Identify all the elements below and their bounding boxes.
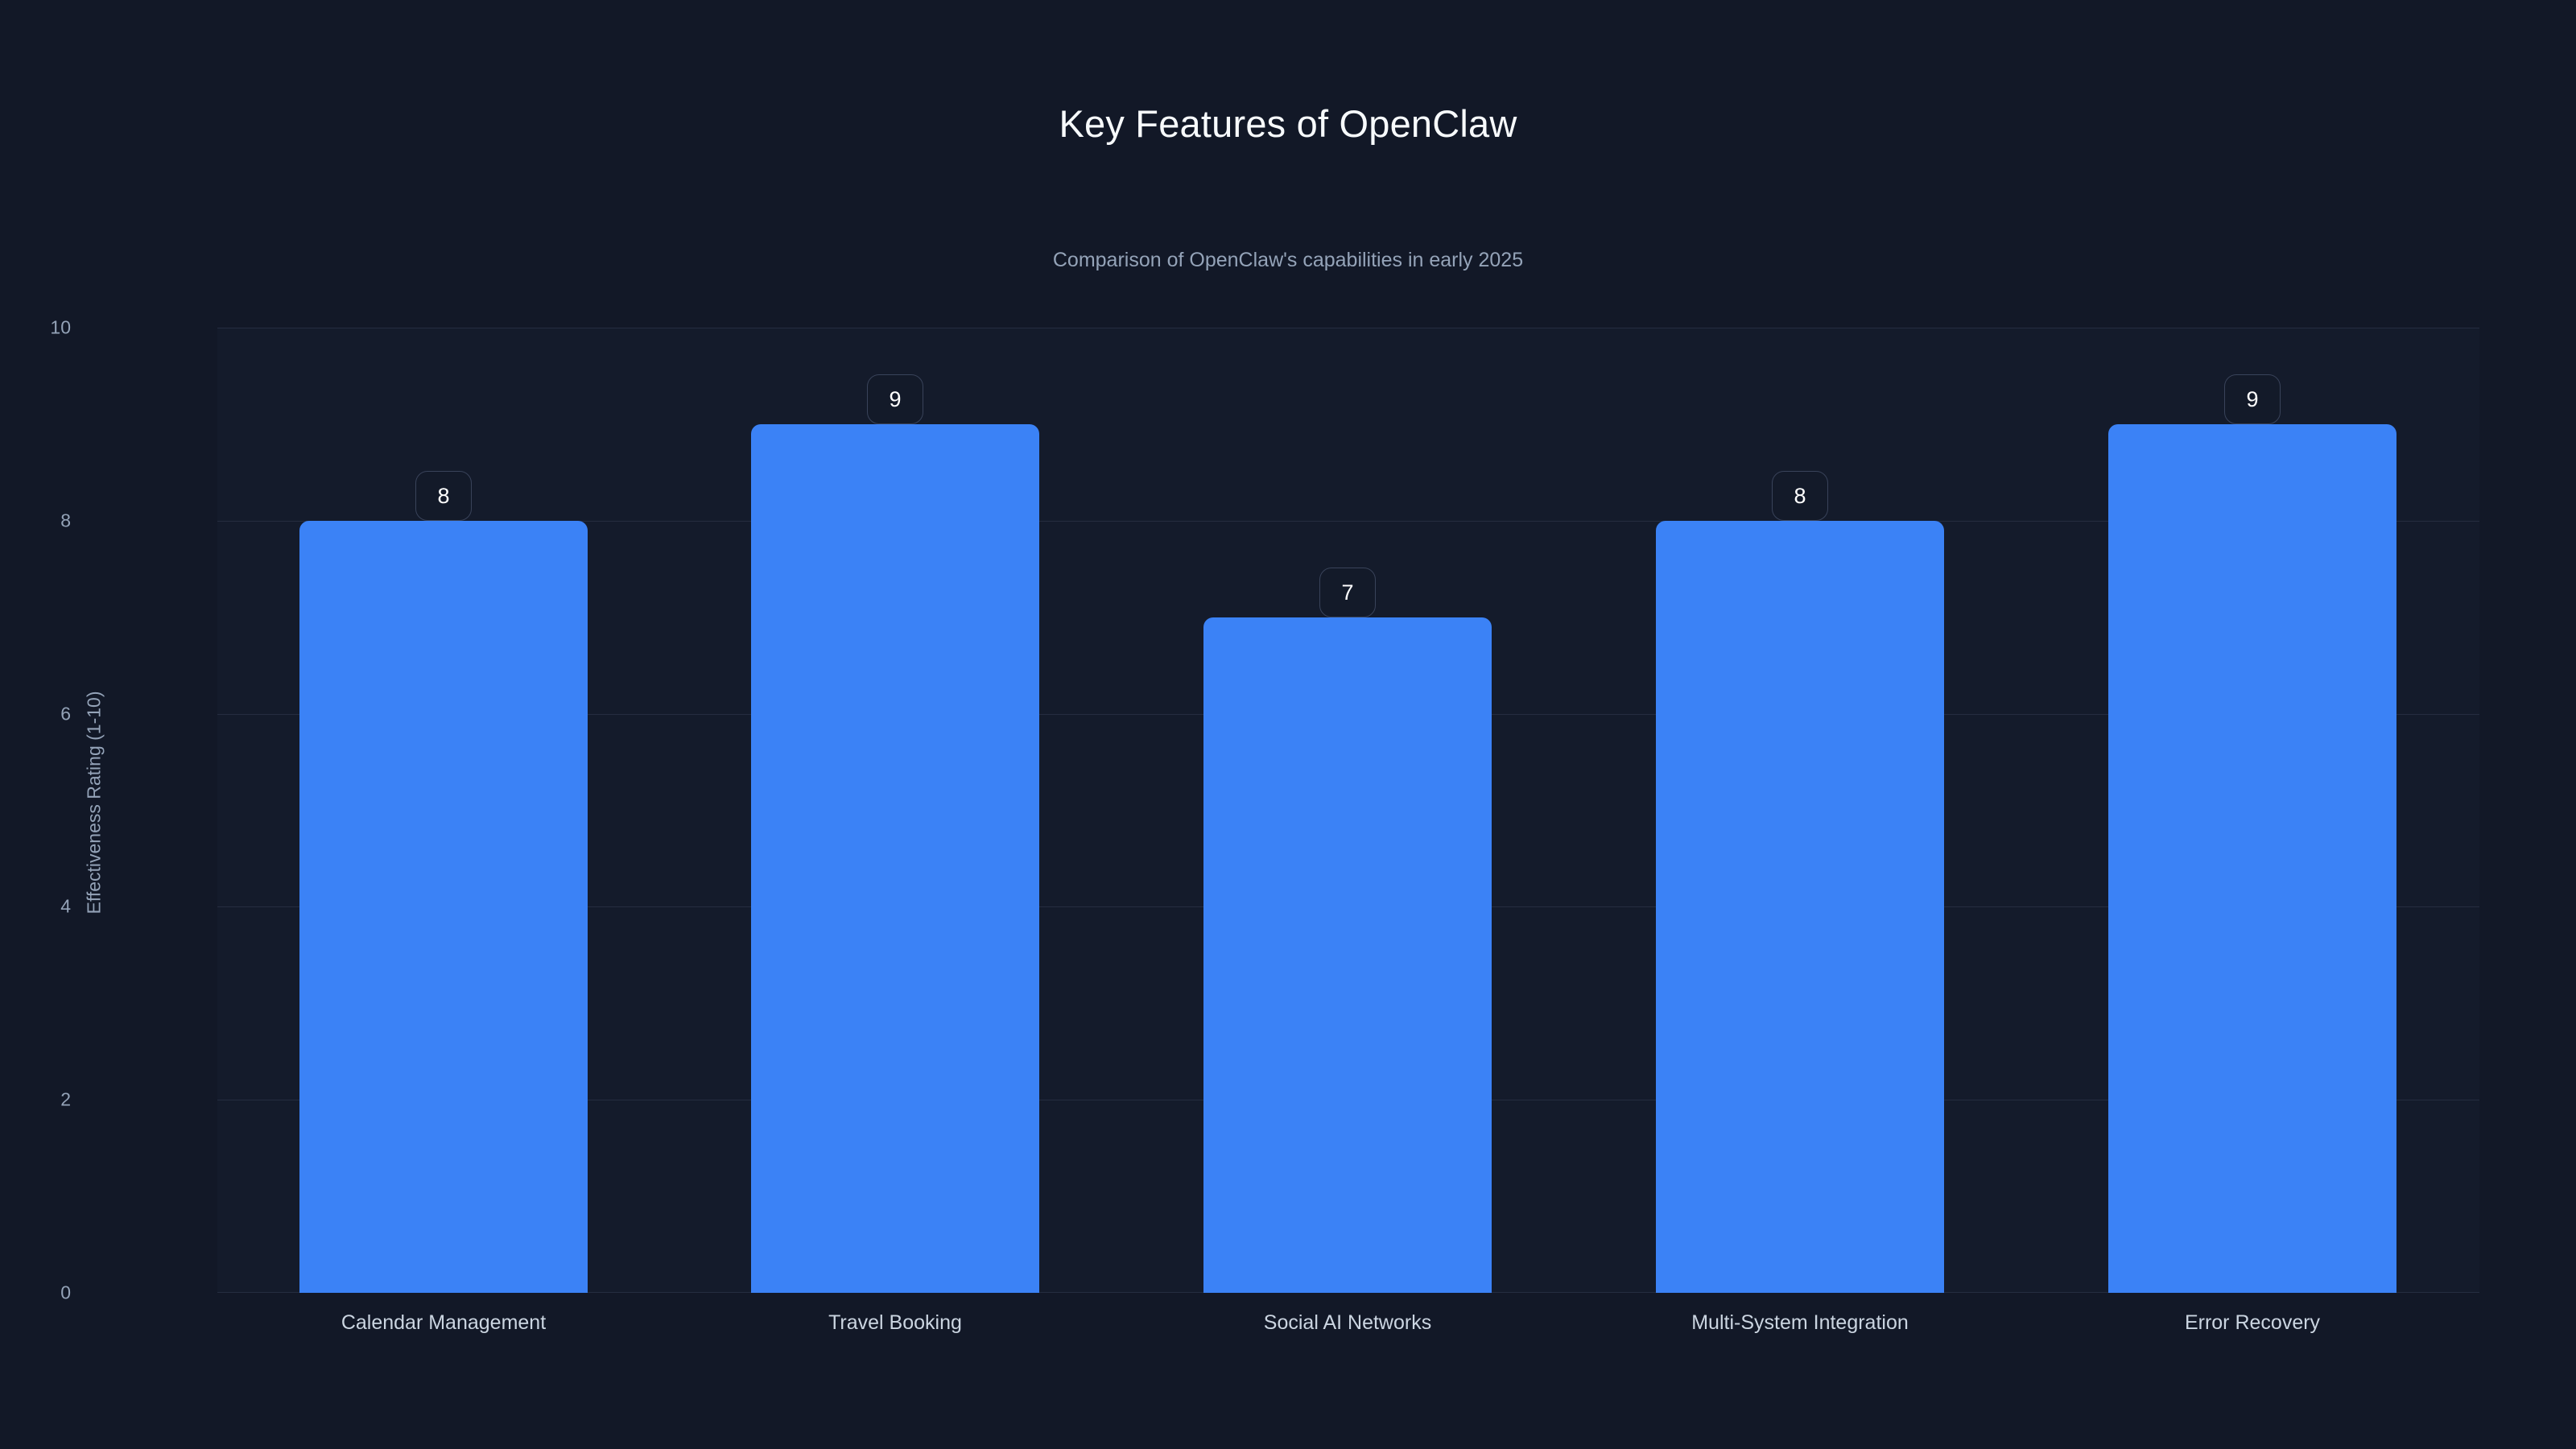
bar-social-ai-networks[interactable] <box>1203 617 1492 1293</box>
bar-group-multi-system-integration: 8 Multi-System Integration <box>1656 328 1944 1293</box>
value-badge-calendar-management: 8 <box>415 471 472 521</box>
y-axis-title: Effectiveness Rating (1-10) <box>84 691 105 914</box>
bar-multi-system-integration[interactable] <box>1656 521 1944 1293</box>
x-tick-label-social-ai-networks: Social AI Networks <box>1264 1311 1431 1335</box>
x-tick-label-calendar-management: Calendar Management <box>341 1311 546 1335</box>
bar-group-social-ai-networks: 7 Social AI Networks <box>1203 328 1492 1293</box>
bar-travel-booking[interactable] <box>751 424 1039 1293</box>
chart-subtitle: Comparison of OpenClaw's capabilities in… <box>0 250 2576 272</box>
y-tick-label-6: 6 <box>0 704 71 725</box>
value-badge-error-recovery: 9 <box>2224 374 2281 424</box>
x-tick-label-error-recovery: Error Recovery <box>2185 1311 2320 1335</box>
bar-error-recovery[interactable] <box>2108 424 2396 1293</box>
y-tick-label-10: 10 <box>0 317 71 339</box>
bar-group-error-recovery: 9 Error Recovery <box>2108 328 2396 1293</box>
x-tick-label-multi-system-integration: Multi-System Integration <box>1691 1311 1909 1335</box>
chart-canvas: Key Features of OpenClaw Comparison of O… <box>0 0 2576 1449</box>
y-tick-label-4: 4 <box>0 896 71 918</box>
y-tick-label-8: 8 <box>0 510 71 532</box>
bar-calendar-management[interactable] <box>299 521 588 1293</box>
chart-title: Key Features of OpenClaw <box>0 103 2576 145</box>
value-badge-travel-booking: 9 <box>867 374 923 424</box>
plot-area: 8 Calendar Management 9 Travel Booking 7… <box>217 328 2479 1293</box>
value-badge-social-ai-networks: 7 <box>1319 568 1376 617</box>
bar-group-calendar-management: 8 Calendar Management <box>299 328 588 1293</box>
y-tick-label-0: 0 <box>0 1282 71 1304</box>
x-tick-label-travel-booking: Travel Booking <box>828 1311 962 1335</box>
value-badge-multi-system-integration: 8 <box>1772 471 1828 521</box>
bar-group-travel-booking: 9 Travel Booking <box>751 328 1039 1293</box>
y-tick-label-2: 2 <box>0 1089 71 1111</box>
